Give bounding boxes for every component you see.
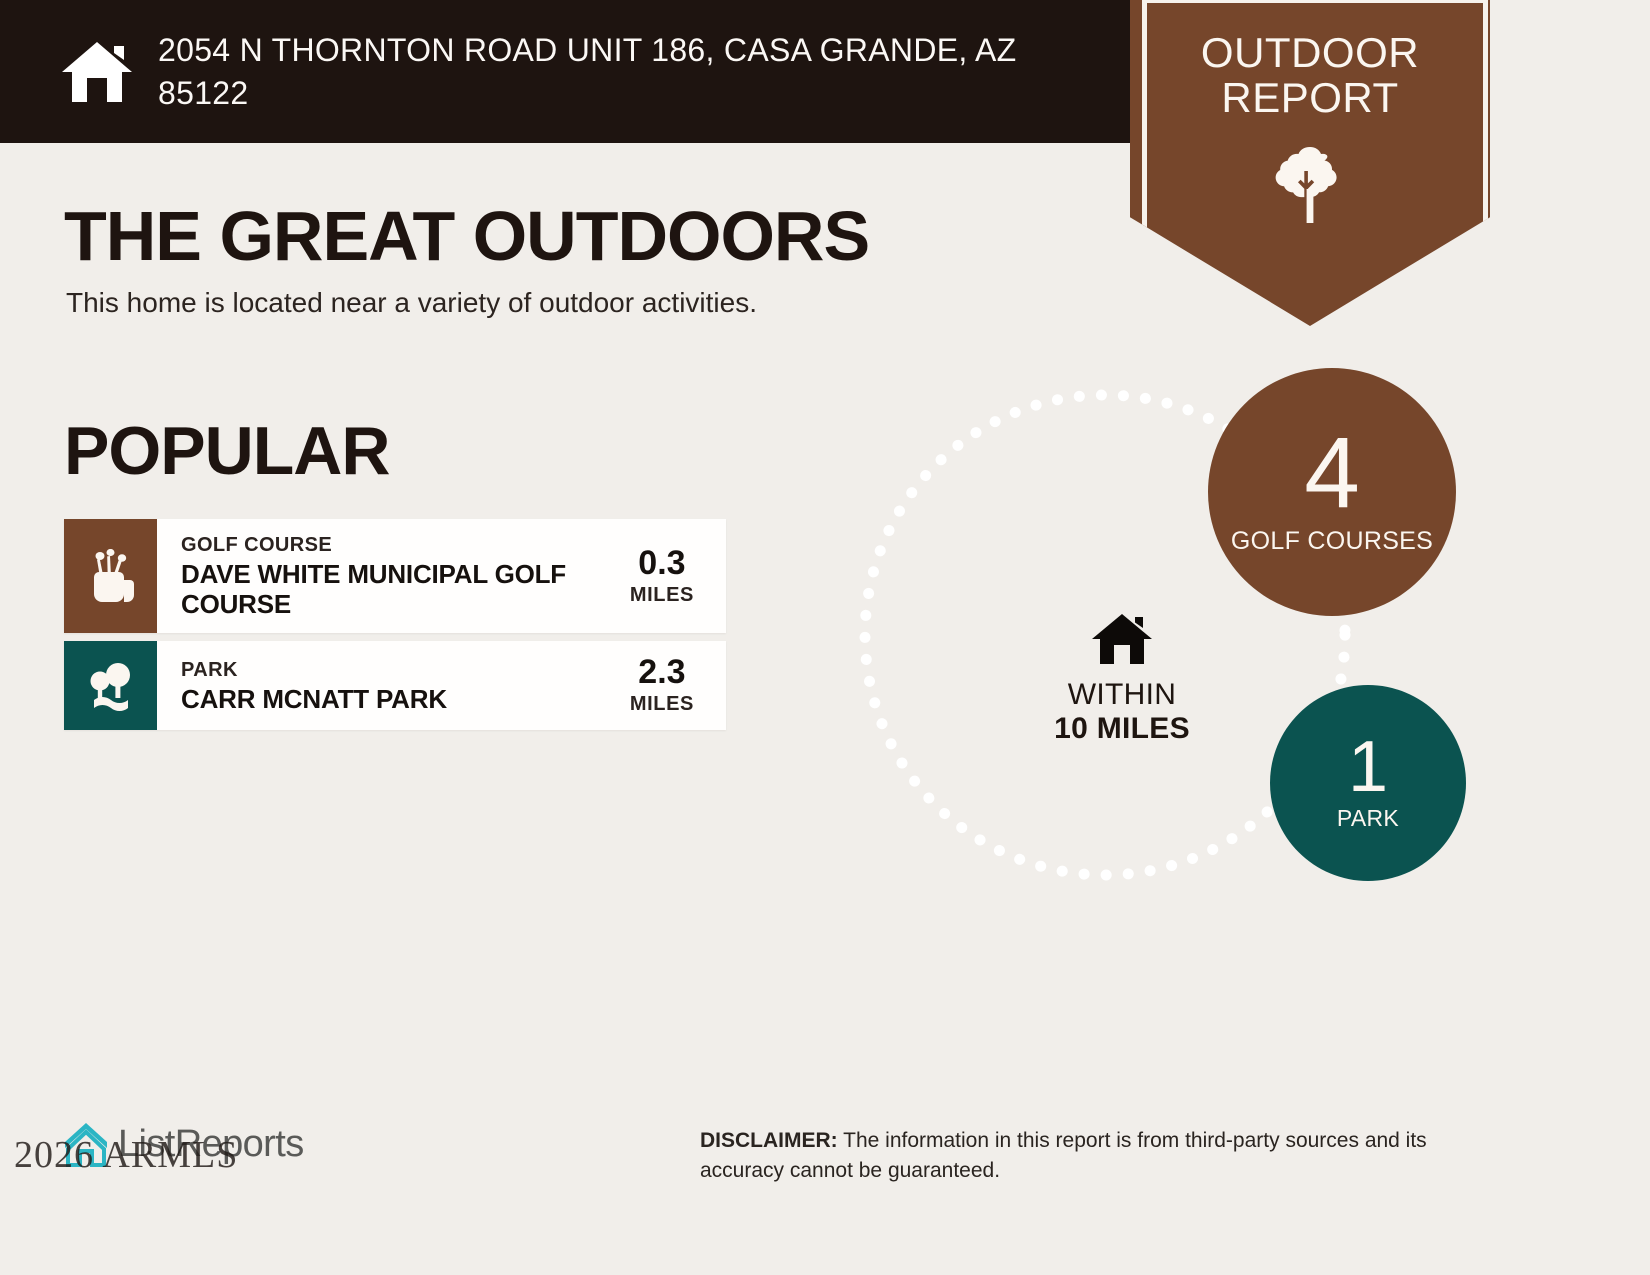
header-bar: 2054 N THORNTON ROAD UNIT 186, CASA GRAN… bbox=[0, 0, 1180, 143]
park-trees-icon bbox=[86, 659, 136, 713]
stat-value: 1 bbox=[1348, 735, 1388, 800]
listreports-logo-text: ListReports bbox=[118, 1123, 304, 1166]
list-item-category: PARK bbox=[181, 658, 618, 683]
list-item[interactable]: GOLF COURSE DAVE WHITE MUNICIPAL GOLF CO… bbox=[64, 519, 726, 633]
radius-line-1: WITHIN bbox=[1068, 678, 1176, 712]
badge-title: OUTDOOR REPORT bbox=[1160, 30, 1460, 121]
distance-unit: MILES bbox=[630, 693, 694, 716]
section-title-popular: POPULAR bbox=[64, 412, 389, 490]
list-item-name: CARR MCNATT PARK bbox=[181, 684, 618, 714]
stat-label: PARK bbox=[1337, 806, 1399, 831]
listreports-logo[interactable]: ListReports bbox=[60, 1118, 304, 1170]
list-item-icon-box bbox=[64, 641, 157, 730]
disclaimer-label: DISCLAIMER: bbox=[700, 1129, 838, 1152]
golf-bag-icon bbox=[86, 549, 136, 603]
page-title: THE GREAT OUTDOORS bbox=[64, 196, 869, 276]
home-icon bbox=[1090, 612, 1154, 666]
list-item[interactable]: PARK CARR MCNATT PARK 2.3 MILES bbox=[64, 641, 726, 730]
list-item-name: DAVE WHITE MUNICIPAL GOLF COURSE bbox=[181, 559, 618, 619]
outdoor-report-badge: OUTDOOR REPORT bbox=[1130, 0, 1490, 326]
radius-diagram: WITHIN 10 MILES 4 GOLF COURSES 1 PARK bbox=[820, 340, 1520, 980]
list-item-icon-box bbox=[64, 519, 157, 633]
list-item-distance: 0.3 MILES bbox=[618, 546, 716, 607]
home-icon bbox=[58, 40, 136, 104]
tree-icon bbox=[1275, 143, 1345, 227]
distance-unit: MILES bbox=[630, 584, 694, 607]
center-home-marker: WITHIN 10 MILES bbox=[1042, 612, 1202, 746]
listreports-house-icon bbox=[60, 1118, 112, 1170]
stat-label: GOLF COURSES bbox=[1231, 528, 1433, 556]
popular-list: GOLF COURSE DAVE WHITE MUNICIPAL GOLF CO… bbox=[64, 519, 726, 738]
distance-value: 0.3 bbox=[630, 546, 694, 580]
distance-value: 2.3 bbox=[630, 655, 694, 689]
property-address: 2054 N THORNTON ROAD UNIT 186, CASA GRAN… bbox=[158, 29, 1078, 113]
radius-line-2: 10 MILES bbox=[1054, 712, 1190, 746]
stat-circle-golf-courses[interactable]: 4 GOLF COURSES bbox=[1208, 368, 1456, 616]
page-subtitle: This home is located near a variety of o… bbox=[66, 287, 757, 319]
disclaimer: DISCLAIMER: The information in this repo… bbox=[700, 1126, 1512, 1187]
list-item-category: GOLF COURSE bbox=[181, 533, 618, 558]
list-item-distance: 2.3 MILES bbox=[618, 655, 716, 716]
stat-circle-parks[interactable]: 1 PARK bbox=[1270, 685, 1466, 881]
stat-value: 4 bbox=[1304, 428, 1360, 518]
